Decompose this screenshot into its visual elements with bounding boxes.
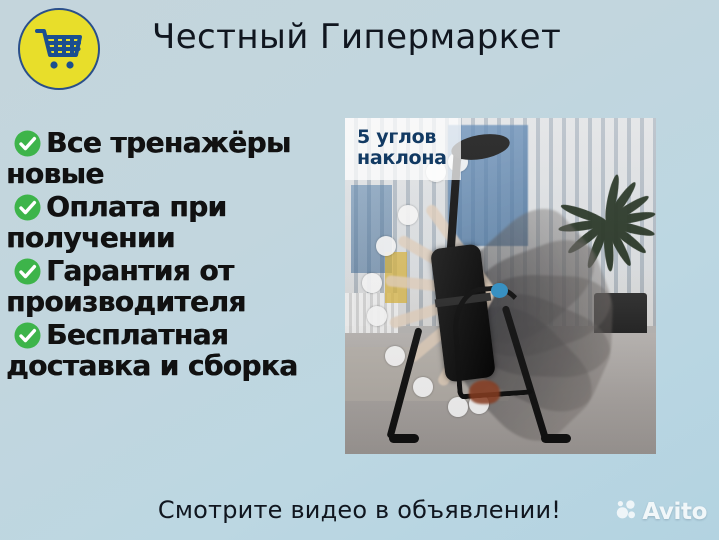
green-check-circle-icon [14, 194, 41, 221]
photo-frame-foot-right [541, 434, 571, 443]
brand-logo-badge [18, 8, 100, 90]
green-check-circle-icon [14, 130, 41, 157]
benefit-text-line: Бесплатная [46, 318, 228, 351]
footer-caption: Смотрите видео в объявлении! [0, 496, 719, 524]
benefit-item-3: Гарантия от производителя [6, 256, 336, 317]
benefit-text-line: Все тренажёры [46, 126, 291, 159]
benefit-text-line: производителя [6, 285, 246, 318]
photo-badge-line-2: наклона [357, 148, 447, 169]
photo-blue-grip [491, 283, 508, 298]
green-check-circle-icon [14, 322, 41, 349]
green-check-circle-icon [14, 258, 41, 285]
advertisement-canvas: Честный Гипермаркет Все тренажёры новые [0, 0, 719, 540]
benefit-text-line: Оплата при [46, 190, 226, 223]
shopping-cart-icon [34, 26, 84, 72]
photo-user-head [469, 380, 500, 404]
photo-frame-foot-left [389, 434, 419, 443]
benefit-item-1: Все тренажёры новые [6, 128, 336, 189]
avito-wordmark: Avito [642, 499, 707, 525]
benefit-item-2: Оплата при получении [6, 192, 336, 253]
inversion-table-product-photo: 5 углов наклона [345, 118, 656, 454]
photo-badge-line-1: 5 углов [357, 127, 447, 148]
benefit-text-line: новые [6, 157, 104, 190]
avito-watermark: Avito [616, 499, 707, 525]
brand-title: Честный Гипермаркет [152, 17, 561, 57]
header-bar: Честный Гипермаркет [0, 0, 719, 98]
avito-dots-icon [616, 500, 638, 524]
benefit-text-line: Гарантия от [46, 254, 233, 287]
benefit-item-4: Бесплатная доставка и сборка [6, 320, 336, 381]
photo-feature-badge: 5 углов наклона [345, 118, 461, 180]
benefits-list: Все тренажёры новые Оплата при получении [6, 128, 336, 384]
benefit-text-line: получении [6, 221, 175, 254]
benefit-text-line: доставка и сборка [6, 349, 297, 382]
